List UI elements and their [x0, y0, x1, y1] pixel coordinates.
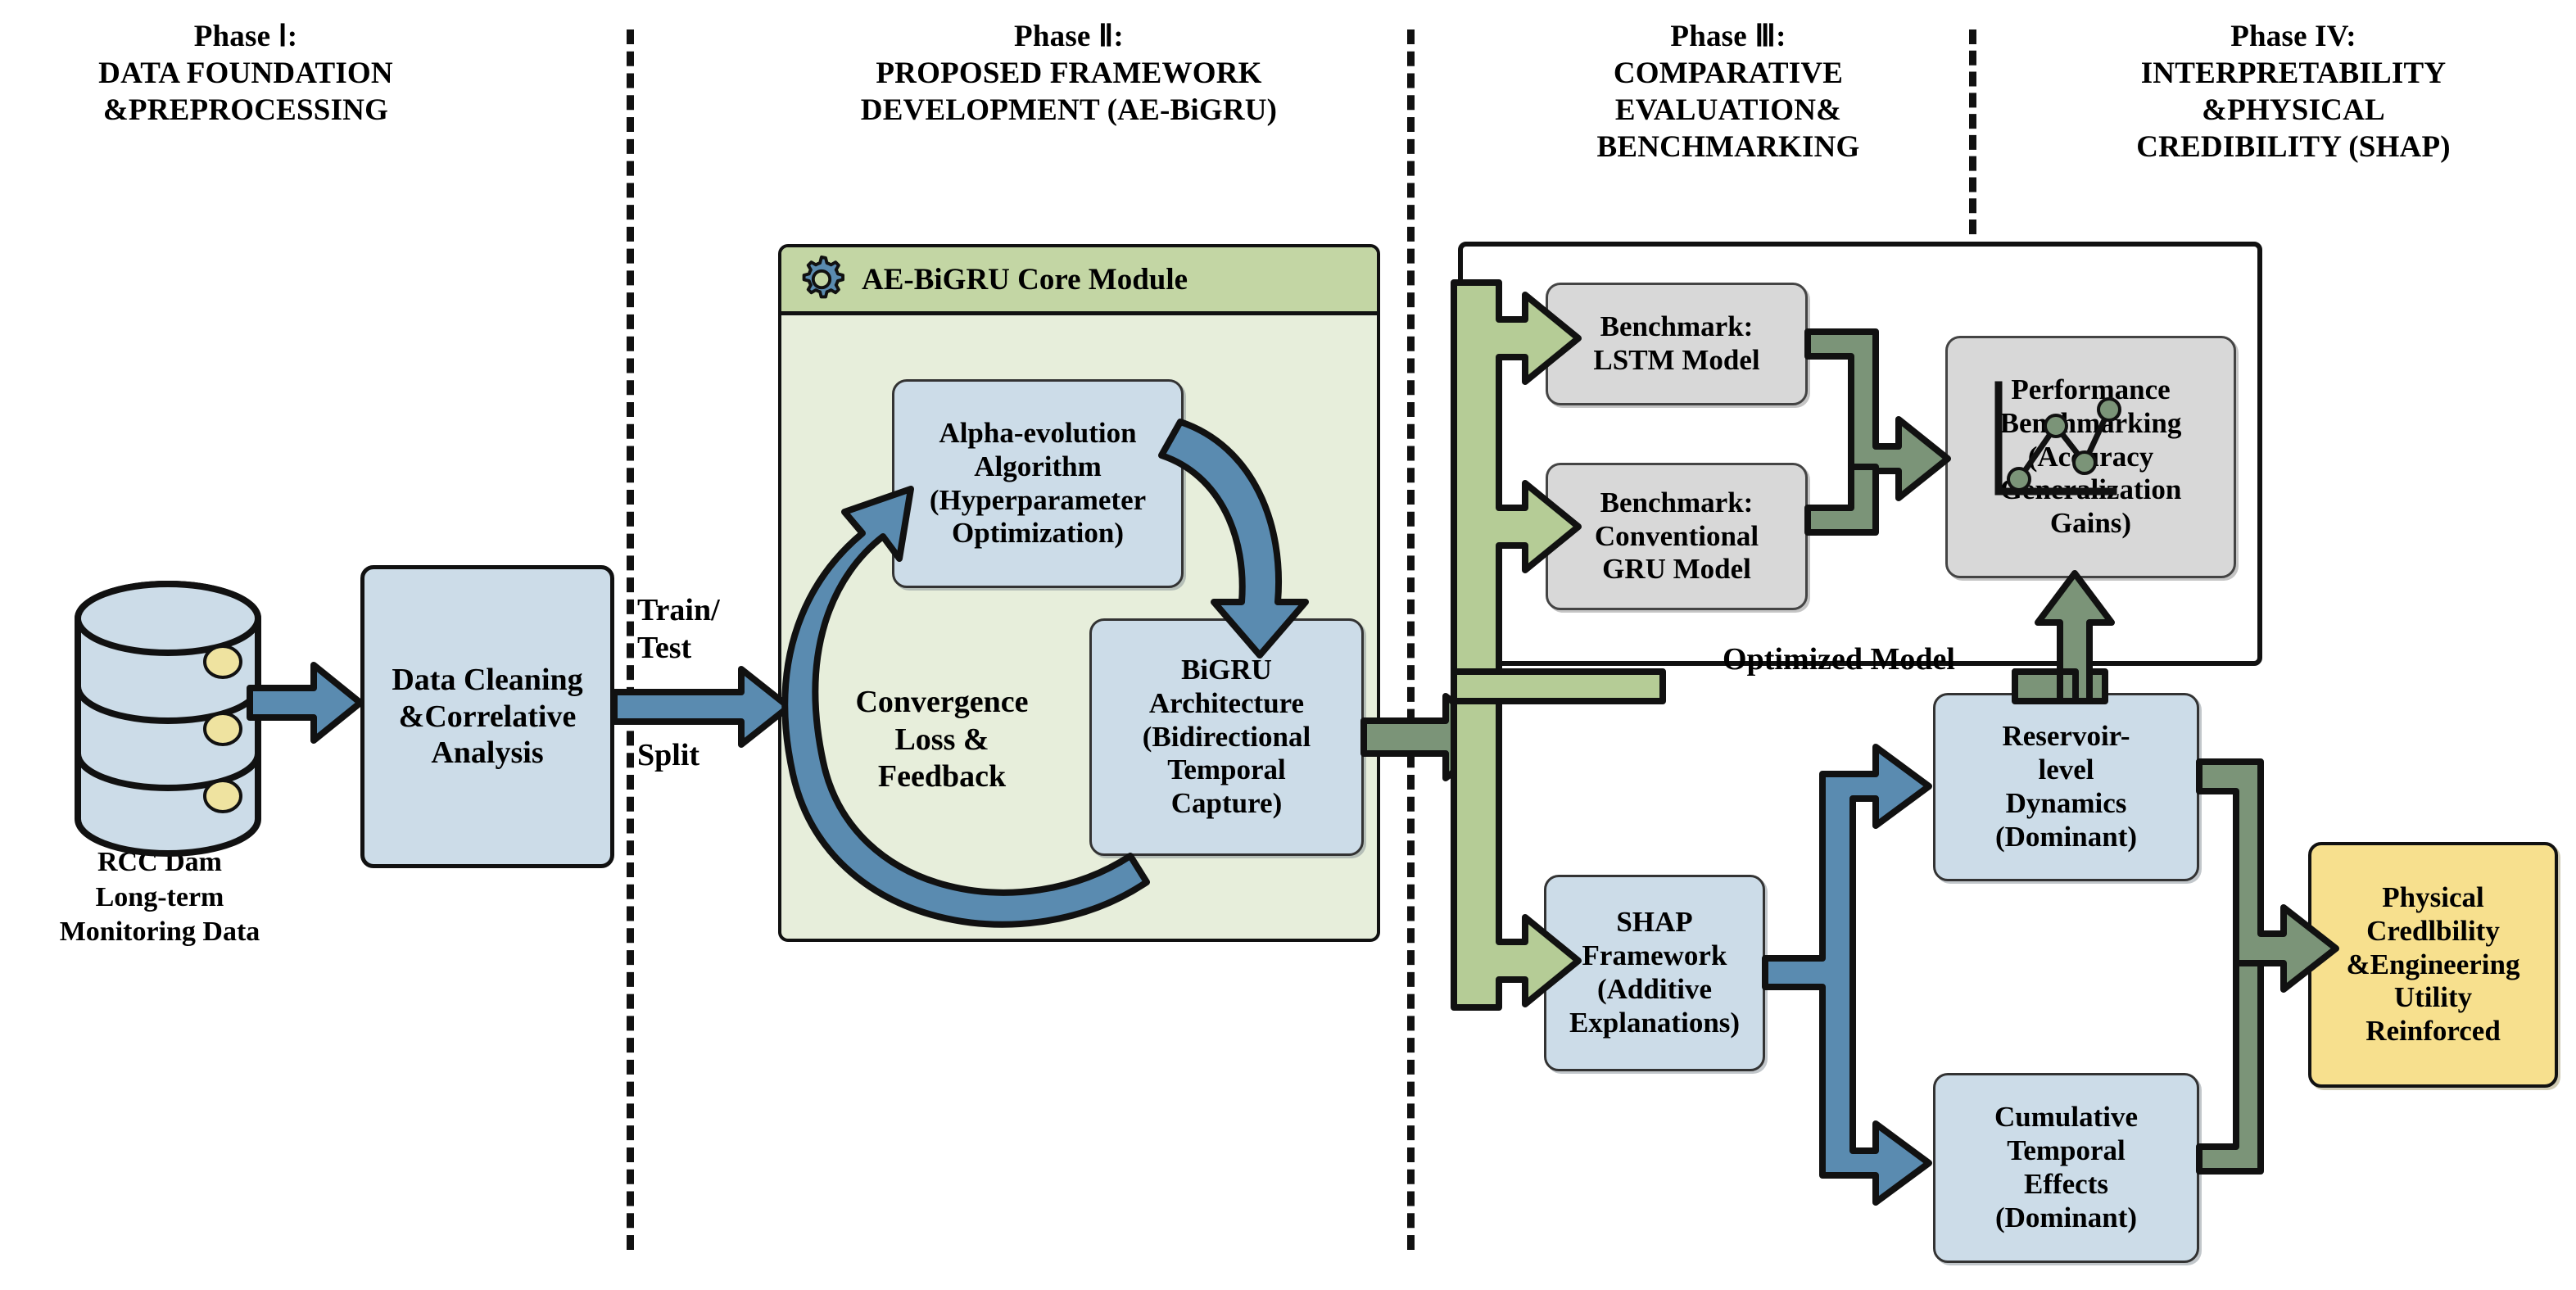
- diagram-canvas: Phase Ⅰ: DATA FOUNDATION &PREPROCESSING …: [0, 0, 2576, 1290]
- data-cleaning-label: Data Cleaning &Correlative Analysis: [364, 662, 610, 771]
- optimized-model-bar-left: [1454, 672, 1663, 701]
- data-cleaning-node[interactable]: Data Cleaning &Correlative Analysis: [360, 565, 614, 868]
- phase-divider-3: [1969, 29, 1976, 234]
- benchmark-lstm-label: Benchmark: LSTM Model: [1548, 310, 1805, 378]
- phase-1-title-line2: DATA FOUNDATION &PREPROCESSING: [0, 55, 491, 129]
- split-label: Split: [637, 737, 772, 775]
- database-caption: RCC Dam Long-term Monitoring Data: [8, 845, 311, 950]
- shap-framework-label: SHAP Framework (Additive Explanations): [1546, 906, 1763, 1040]
- gear-icon: [796, 254, 847, 305]
- convergence-feedback-label: Convergence Loss & Feedback: [819, 684, 1065, 796]
- phase-3-title: Phase Ⅲ: COMPARATIVE EVALUATION& BENCHMA…: [1474, 18, 1982, 166]
- core-module-title: AE-BiGRU Core Module: [862, 262, 1188, 297]
- phase-3-title-line2: COMPARATIVE EVALUATION& BENCHMARKING: [1474, 55, 1982, 165]
- arrow-core-to-phase3: [1364, 696, 1499, 778]
- phase-4-title: Phase IV: INTERPRETABILITY &PHYSICAL CRE…: [2011, 18, 2576, 166]
- optimized-model-label: Optimized Model: [1667, 641, 2011, 679]
- alpha-evolution-node[interactable]: Alpha-evolution Algorithm (Hyperparamete…: [892, 379, 1184, 588]
- phase-3-title-line1: Phase Ⅲ:: [1474, 18, 1982, 55]
- phase-2-title: Phase Ⅱ: PROPOSED FRAMEWORK DEVELOPMENT …: [631, 18, 1507, 129]
- benchmark-lstm-node[interactable]: Benchmark: LSTM Model: [1546, 283, 1808, 405]
- benchmark-gru-node[interactable]: Benchmark: Conventional GRU Model: [1546, 463, 1808, 610]
- database-cylinder-icon: [78, 584, 258, 853]
- phase-1-title-line1: Phase Ⅰ:: [0, 18, 491, 55]
- final-outcome-node[interactable]: Physical Credlbility &Engineering Utilit…: [2308, 842, 2558, 1088]
- performance-benchmarking-label: Performance Benchmarking (Accuracy Gener…: [1948, 373, 2234, 541]
- arrow-cleaning-to-core: [614, 669, 789, 745]
- cumulative-temporal-node[interactable]: Cumulative Temporal Effects (Dominant): [1933, 1073, 2199, 1263]
- reservoir-level-label: Reservoir- level Dynamics (Dominant): [1935, 720, 2197, 854]
- shap-framework-node[interactable]: SHAP Framework (Additive Explanations): [1544, 875, 1765, 1071]
- bigru-architecture-label: BiGRU Architecture (Bidirectional Tempor…: [1092, 654, 1361, 822]
- phase-divider-2: [1407, 29, 1415, 1250]
- performance-benchmarking-node[interactable]: Performance Benchmarking (Accuracy Gener…: [1945, 336, 2236, 578]
- cumulative-temporal-label: Cumulative Temporal Effects (Dominant): [1935, 1101, 2197, 1235]
- phase-4-title-line2: INTERPRETABILITY &PHYSICAL CREDIBILITY (…: [2011, 55, 2576, 165]
- phase-1-title: Phase Ⅰ: DATA FOUNDATION &PREPROCESSING: [0, 18, 491, 129]
- core-module-header: AE-BiGRU Core Module: [781, 247, 1377, 315]
- phase-2-title-line2: PROPOSED FRAMEWORK DEVELOPMENT (AE-BiGRU…: [631, 55, 1507, 129]
- train-test-label: Train/ Test: [637, 592, 772, 667]
- phase-4-title-line1: Phase IV:: [2011, 18, 2576, 55]
- bigru-architecture-node[interactable]: BiGRU Architecture (Bidirectional Tempor…: [1089, 618, 1364, 856]
- shap-fork-arrows: [1765, 747, 1929, 1202]
- final-outcome-label: Physical Credlbility &Engineering Utilit…: [2311, 881, 2555, 1049]
- phase-2-title-line1: Phase Ⅱ:: [631, 18, 1507, 55]
- benchmark-gru-label: Benchmark: Conventional GRU Model: [1548, 487, 1805, 587]
- arrow-db-to-cleaning: [250, 665, 360, 740]
- phase-divider-1: [627, 29, 634, 1250]
- alpha-evolution-label: Alpha-evolution Algorithm (Hyperparamete…: [894, 417, 1181, 551]
- reservoir-level-node[interactable]: Reservoir- level Dynamics (Dominant): [1933, 693, 2199, 881]
